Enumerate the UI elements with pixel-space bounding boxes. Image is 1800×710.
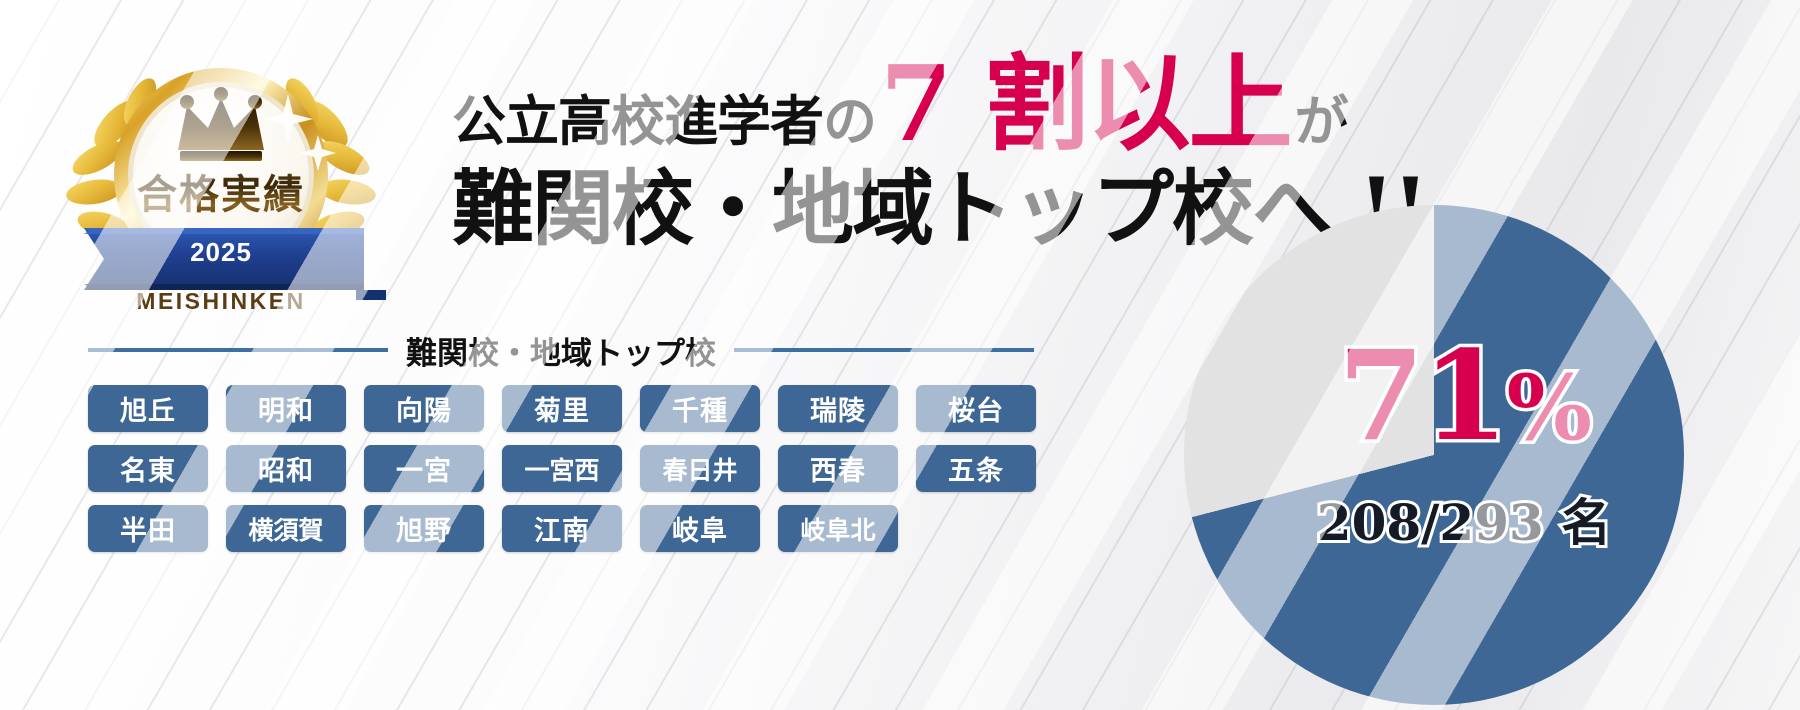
divider-line-left xyxy=(88,348,388,352)
school-tag[interactable]: 五条 xyxy=(916,445,1036,492)
pie-percentage-unit: % xyxy=(1507,355,1591,461)
school-tag[interactable]: 明和 xyxy=(226,385,346,432)
pie-percentage-value: 71 xyxy=(1338,324,1507,469)
school-tag[interactable]: 岐阜北 xyxy=(778,505,898,552)
school-tag[interactable]: 岐阜 xyxy=(640,505,760,552)
headline-suffix: が xyxy=(1295,77,1349,156)
school-tag-row: 旭丘 明和 向陽 菊里 千種 瑞陵 桜台 xyxy=(88,385,1068,432)
pie-count-label: 208/293 名 xyxy=(1244,483,1684,555)
school-tag[interactable]: 昭和 xyxy=(226,445,346,492)
school-tag-list: 旭丘 明和 向陽 菊里 千種 瑞陵 桜台 名東 昭和 一宮 一宮西 春日井 西春… xyxy=(88,385,1068,565)
headline-line-1: 公立高校進学者の 7 割以上 が xyxy=(452,52,1352,164)
divider-line-right xyxy=(734,348,1034,352)
school-tag[interactable]: 半田 xyxy=(88,505,208,552)
divider-label: 難関校・地域トップ校 xyxy=(406,328,716,373)
results-pie-chart: 71% 208/293 名 xyxy=(1184,205,1684,705)
achievement-emblem: 合格実績 2025 MEISHINKEN xyxy=(56,32,386,300)
school-tag[interactable]: 瑞陵 xyxy=(778,385,898,432)
school-tag[interactable]: 菊里 xyxy=(502,385,622,432)
school-tag[interactable]: 一宮 xyxy=(364,445,484,492)
school-tag[interactable]: 西春 xyxy=(778,445,898,492)
section-divider: 難関校・地域トップ校 xyxy=(88,330,1058,370)
school-tag[interactable]: 旭野 xyxy=(364,505,484,552)
emblem-title: 合格実績 xyxy=(56,162,386,220)
promo-banner: 合格実績 2025 MEISHINKEN 公立高校進学者の 7 割以上 が 難関… xyxy=(0,0,1800,710)
pie-percentage-label: 71% xyxy=(1244,335,1684,459)
school-tag[interactable]: 春日井 xyxy=(640,445,760,492)
school-tag[interactable]: 向陽 xyxy=(364,385,484,432)
school-tag-row: 名東 昭和 一宮 一宮西 春日井 西春 五条 xyxy=(88,445,1068,492)
school-tag-row: 半田 横須賀 旭野 江南 岐阜 岐阜北 xyxy=(88,505,1068,552)
emblem-brand-name: MEISHINKEN xyxy=(56,288,386,315)
school-tag[interactable]: 桜台 xyxy=(916,385,1036,432)
school-tag[interactable]: 横須賀 xyxy=(226,505,346,552)
school-tag[interactable]: 一宮西 xyxy=(502,445,622,492)
school-tag[interactable]: 旭丘 xyxy=(88,385,208,432)
school-tag[interactable]: 千種 xyxy=(640,385,760,432)
headline-highlight: 7 割以上 xyxy=(880,52,1291,156)
school-tag[interactable]: 名東 xyxy=(88,445,208,492)
emblem-year: 2025 xyxy=(56,237,386,268)
crown-icon xyxy=(178,87,264,161)
headline-prefix: 公立高校進学者の xyxy=(452,77,876,156)
school-tag[interactable]: 江南 xyxy=(502,505,622,552)
